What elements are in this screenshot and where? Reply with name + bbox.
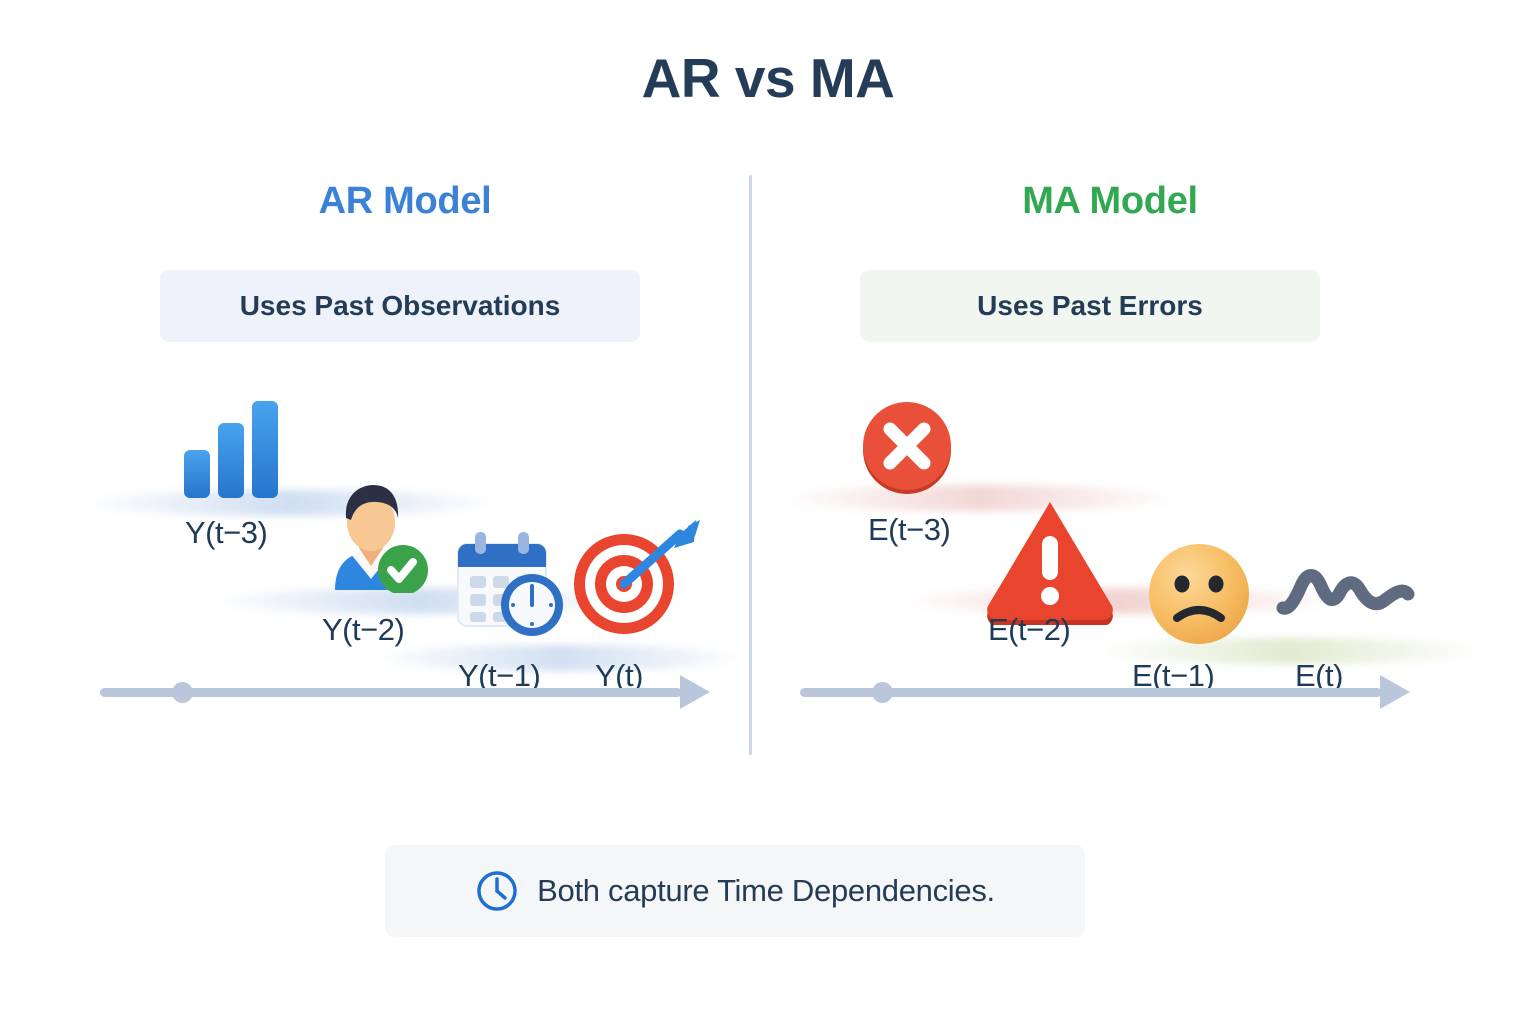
- ar-panel-heading: AR Model: [60, 180, 750, 223]
- target-arrow-icon: [568, 518, 700, 645]
- error-cross-circle-icon: [858, 398, 956, 501]
- ma-panel-heading: MA Model: [760, 180, 1460, 223]
- ground-shadow-ar-3: [370, 645, 750, 671]
- ma-timeline: [800, 672, 1410, 712]
- ar-step-label-0: Y(t−3): [185, 515, 267, 551]
- ar-timeline: [100, 672, 710, 712]
- warning-triangle-icon: [984, 500, 1116, 630]
- page-title: AR vs MA: [0, 46, 1536, 110]
- ar-timeline-arrowhead: [680, 675, 710, 709]
- infographic-canvas: AR vs MA AR Model Uses Past Observations…: [0, 0, 1536, 1024]
- ma-panel-badge: Uses Past Errors: [860, 270, 1320, 342]
- squiggle-wave-icon: [1275, 560, 1415, 635]
- footer-text: Both capture Time Dependencies.: [537, 873, 995, 909]
- ground-shadow-ma-2: [900, 588, 1340, 614]
- ma-step-label-1: E(t−2): [988, 612, 1070, 648]
- person-check-icon: [315, 478, 430, 598]
- bar-chart-icon: [176, 395, 286, 505]
- ma-timeline-arrowhead: [1380, 675, 1410, 709]
- sad-face-icon: [1145, 540, 1253, 653]
- ar-step-label-1: Y(t−2): [322, 612, 404, 648]
- ar-timeline-dot: [172, 682, 193, 703]
- ground-shadow-ar-1: [80, 490, 500, 516]
- clock-icon: [475, 869, 519, 913]
- footer-note: Both capture Time Dependencies.: [385, 845, 1085, 937]
- ma-timeline-dot: [872, 682, 893, 703]
- ground-shadow-ma-1: [780, 485, 1180, 511]
- ma-model-panel: MA Model Uses Past Errors E(t−3) E(t−2): [760, 160, 1460, 760]
- calendar-clock-icon: [448, 528, 568, 643]
- ar-panel-badge: Uses Past Observations: [160, 270, 640, 342]
- ma-step-label-0: E(t−3): [868, 512, 950, 548]
- ar-model-panel: AR Model Uses Past Observations Y(t−3): [60, 160, 750, 760]
